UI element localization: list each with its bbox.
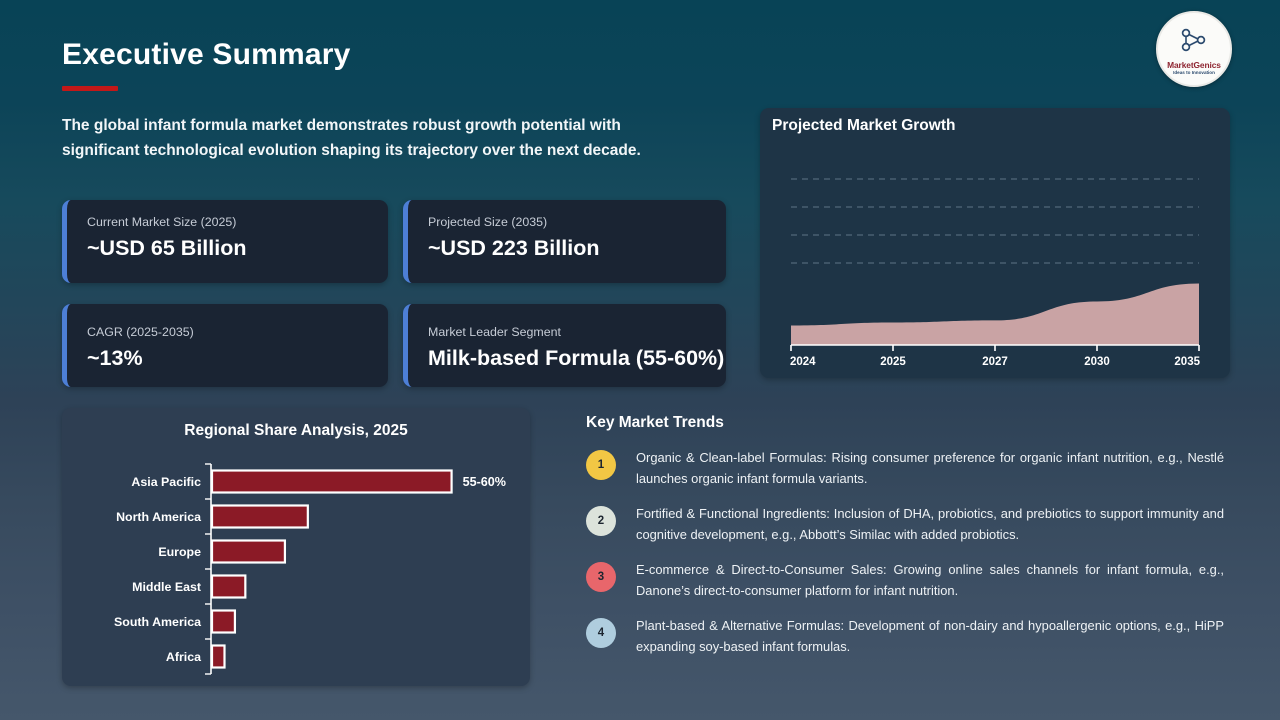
x-tick-label: 2025 xyxy=(880,356,906,368)
trend-item: 4Plant-based & Alternative Formulas: Dev… xyxy=(586,616,1226,657)
trend-text: Organic & Clean-label Formulas: Rising c… xyxy=(636,448,1224,489)
network-nodes-icon xyxy=(1177,26,1211,59)
kpi-value: Milk-based Formula (55-60%) xyxy=(428,344,726,372)
kpi-label: Current Market Size (2025) xyxy=(87,214,388,230)
kpi-label: Market Leader Segment xyxy=(428,324,726,340)
trend-item: 3E-commerce & Direct-to-Consumer Sales: … xyxy=(586,560,1226,601)
bar-category-label: Asia Pacific xyxy=(131,475,201,489)
kpi-card-cagr: CAGR (2025-2035) ~13% xyxy=(62,304,388,387)
kpi-value: ~USD 65 Billion xyxy=(87,234,388,262)
trend-number-badge: 1 xyxy=(586,450,616,480)
regional-share-analysis-chart: Regional Share Analysis, 2025 Asia Pacif… xyxy=(62,408,530,686)
bar-category-label: North America xyxy=(116,510,201,524)
bar-category-label: Middle East xyxy=(132,580,201,594)
trend-item: 1Organic & Clean-label Formulas: Rising … xyxy=(586,448,1226,489)
trend-number-badge: 2 xyxy=(586,506,616,536)
bar-chart-data-label: 55-60% xyxy=(463,475,506,489)
area-chart-plot xyxy=(760,108,1230,378)
kpi-label: Projected Size (2035) xyxy=(428,214,726,230)
bar-category-label: Europe xyxy=(158,545,201,559)
trend-number-badge: 3 xyxy=(586,562,616,592)
x-tick-label: 2027 xyxy=(982,356,1008,368)
title-accent-rule xyxy=(62,86,118,91)
x-tick-label: 2024 xyxy=(790,356,816,368)
x-tick-label: 2030 xyxy=(1084,356,1110,368)
logo-tagline: Ideas to Innovation xyxy=(1173,71,1215,76)
kpi-value: ~13% xyxy=(87,344,388,372)
trends-heading: Key Market Trends xyxy=(586,414,724,432)
page-subtitle: The global infant formula market demonst… xyxy=(62,113,702,163)
bar-chart-category-labels: Asia PacificNorth AmericaEuropeMiddle Ea… xyxy=(62,408,530,686)
bar-category-label: South America xyxy=(114,615,201,629)
kpi-value: ~USD 223 Billion xyxy=(428,234,726,262)
kpi-card-projected-size: Projected Size (2035) ~USD 223 Billion xyxy=(403,200,726,283)
trend-text: E-commerce & Direct-to-Consumer Sales: G… xyxy=(636,560,1224,601)
trend-number-badge: 4 xyxy=(586,618,616,648)
logo: MarketGenics Ideas to Innovation xyxy=(1156,11,1232,87)
trends-list: 1Organic & Clean-label Formulas: Rising … xyxy=(586,448,1226,672)
bar-category-label: Africa xyxy=(166,650,201,664)
kpi-card-current-market-size: Current Market Size (2025) ~USD 65 Billi… xyxy=(62,200,388,283)
page-title: Executive Summary xyxy=(62,38,351,72)
trend-item: 2Fortified & Functional Ingredients: Inc… xyxy=(586,504,1226,545)
kpi-card-market-leader-segment: Market Leader Segment Milk-based Formula… xyxy=(403,304,726,387)
trend-text: Fortified & Functional Ingredients: Incl… xyxy=(636,504,1224,545)
logo-brand-text: MarketGenics xyxy=(1167,61,1221,69)
x-tick-label: 2035 xyxy=(1174,356,1200,368)
trend-text: Plant-based & Alternative Formulas: Deve… xyxy=(636,616,1224,657)
area-chart-x-axis-labels: 20242025202720302035 xyxy=(760,353,1230,375)
projected-market-growth-chart: Projected Market Growth 2024202520272030… xyxy=(760,108,1230,378)
kpi-label: CAGR (2025-2035) xyxy=(87,324,388,340)
